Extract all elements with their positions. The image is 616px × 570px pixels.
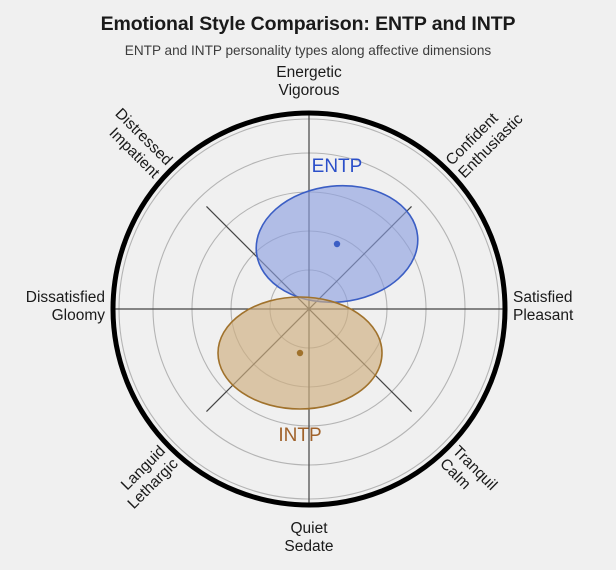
axis-label-bottom: QuietSedate: [284, 520, 333, 555]
axis-label-top-line2: Vigorous: [279, 82, 340, 99]
axis-label-right: SatisfiedPleasant: [513, 289, 574, 324]
polar-plot-svg: ENTPINTP EnergeticVigorousConfidentEnthu…: [0, 0, 616, 570]
series-center-dot-entp: [334, 241, 340, 247]
polar-chart-root: Emotional Style Comparison: ENTP and INT…: [0, 0, 616, 570]
axis-label-bottom-line1: Quiet: [290, 520, 328, 537]
axis-label-left-line1: Dissatisfied: [26, 289, 105, 306]
series-label-intp: INTP: [278, 425, 321, 446]
series-ellipses: [218, 178, 424, 409]
series-label-entp: ENTP: [312, 156, 363, 177]
axis-label-right-line2: Pleasant: [513, 307, 574, 324]
axis-label-bottom-left: LanguidLethargic: [112, 442, 182, 512]
axis-label-left: DissatisfiedGloomy: [26, 289, 105, 324]
axis-label-top-right: ConfidentEnthusiastic: [443, 98, 527, 182]
axis-label-left-line2: Gloomy: [52, 307, 106, 324]
axis-label-top-line1: Energetic: [276, 64, 342, 81]
axis-label-top: EnergeticVigorous: [276, 64, 342, 99]
axis-label-right-line1: Satisfied: [513, 289, 572, 306]
axis-label-top-left: DistressedImpatient: [99, 105, 176, 182]
series-center-dot-intp: [297, 350, 303, 356]
axis-label-bottom-line2: Sedate: [284, 538, 333, 555]
